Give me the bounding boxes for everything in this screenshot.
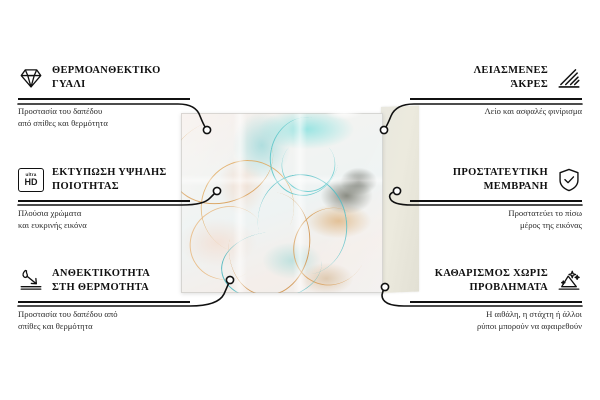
feature-divider [410,98,582,100]
feature-title-line2: ΆΚΡΕΣ [474,78,548,92]
feature-title-line2: ΠΟΙΟΤΗΤΑΣ [52,180,167,194]
infographic-canvas: ΘΕΡΜΟΑΝΘΕΚΤΙΚΟ ΓΥΑΛΙ Προστασία του δαπέδ… [0,0,600,400]
feature-divider [18,98,190,100]
ultra-hd-icon-bottom-text: HD [25,178,38,187]
feature-divider [18,301,190,303]
feature-desc-line1: Προστασία του δαπέδου [18,105,190,117]
feature-divider [410,301,582,303]
feature-high-quality-print: ultra HD ΕΚΤΥΠΩΣΗ ΥΨΗΛΗΣ ΠΟΙΟΤΗΤΑΣ Πλούσ… [18,166,190,232]
glass-glare-highlight [324,102,364,120]
feature-title-line2: ΠΡΟΒΛΗΜΑΤΑ [435,281,548,295]
feature-title-line1: ΑΝΘΕΚΤΙΚΟΤΗΤΑ [52,267,150,281]
feature-title-line1: ΛΕΙΑΣΜΕΝΕΣ [474,64,548,78]
shield-check-icon [556,167,582,193]
feature-desc-line2: από σπίθες και θερμότητα [18,117,190,129]
hatched-triangle-icon [556,65,582,91]
feature-heat-resistant-glass: ΘΕΡΜΟΑΝΘΕΚΤΙΚΟ ΓΥΑΛΙ Προστασία του δαπέδ… [18,64,190,130]
feature-divider [18,200,190,202]
feature-title-line1: ΠΡΟΣΤΑΤΕΥΤΙΚΗ [453,166,548,180]
feature-divider [410,200,582,202]
feature-desc-line2: μέρος της εικόνας [410,219,582,231]
feature-title-line2: ΓΥΑΛΙ [52,78,161,92]
feature-desc-line1: Πλούσια χρώματα [18,207,190,219]
feature-desc-line2: ρύποι μπορούν να αφαιρεθούν [410,320,582,332]
ultra-hd-icon: ultra HD [18,168,44,192]
feature-protective-membrane: ΠΡΟΣΤΑΤΕΥΤΙΚΗ ΜΕΜΒΡΑΝΗ Προστατεύει το πί… [410,166,582,232]
feature-title-line1: ΚΑΘΑΡΙΣΜΟΣ ΧΩΡΙΣ [435,267,548,281]
product-image [181,107,419,295]
feature-title-line2: ΣΤΗ ΘΕΡΜΟΤΗΤΑ [52,281,150,295]
feature-desc-line1: Λείο και ασφαλές φινίρισμα [410,105,582,117]
flame-deflect-icon [18,268,44,294]
feature-desc-line1: Προστασία του δαπέδου από [18,308,190,320]
product-glass-panel [181,113,383,293]
feature-polished-edges: ΛΕΙΑΣΜΕΝΕΣ ΆΚΡΕΣ Λείο και ασφαλές φινίρι… [410,64,582,117]
feature-desc-line2: σπίθες και θερμότητα [18,320,190,332]
feature-easy-cleaning: ΚΑΘΑΡΙΣΜΟΣ ΧΩΡΙΣ ΠΡΟΒΛΗΜΑΤΑ Η αιθάλη, η … [410,267,582,333]
diamond-icon [18,65,44,91]
feature-title-line2: ΜΕΜΒΡΑΝΗ [453,180,548,194]
sparkle-cloth-icon [556,268,582,294]
feature-desc-line1: Προστατεύει το πίσω [410,207,582,219]
feature-title-line1: ΘΕΡΜΟΑΝΘΕΚΤΙΚΟ [52,64,161,78]
feature-desc-line1: Η αιθάλη, η στάχτη ή άλλοι [410,308,582,320]
feature-desc-line2: και ευκρινής εικόνα [18,219,190,231]
glass-edge [181,113,383,293]
feature-title-line1: ΕΚΤΥΠΩΣΗ ΥΨΗΛΗΣ [52,166,167,180]
feature-heat-durability: ΑΝΘΕΚΤΙΚΟΤΗΤΑ ΣΤΗ ΘΕΡΜΟΤΗΤΑ Προστασία το… [18,267,190,333]
